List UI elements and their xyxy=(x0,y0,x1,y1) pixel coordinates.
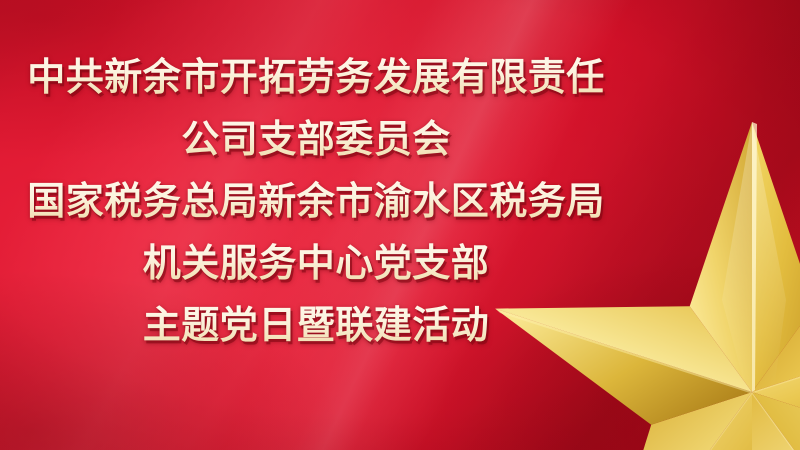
title-line-3: 国家税务总局新余市渝水区税务局 xyxy=(0,170,632,232)
banner-title-block: 中共新余市开拓劳务发展有限责任 公司支部委员会 国家税务总局新余市渝水区税务局 … xyxy=(0,46,632,356)
banner-canvas: 中共新余市开拓劳务发展有限责任 公司支部委员会 国家税务总局新余市渝水区税务局 … xyxy=(0,0,800,450)
title-line-5: 主题党日暨联建活动 xyxy=(0,294,632,356)
title-line-2: 公司支部委员会 xyxy=(0,108,632,170)
title-line-4: 机关服务中心党支部 xyxy=(0,232,632,294)
title-line-1: 中共新余市开拓劳务发展有限责任 xyxy=(0,46,632,108)
